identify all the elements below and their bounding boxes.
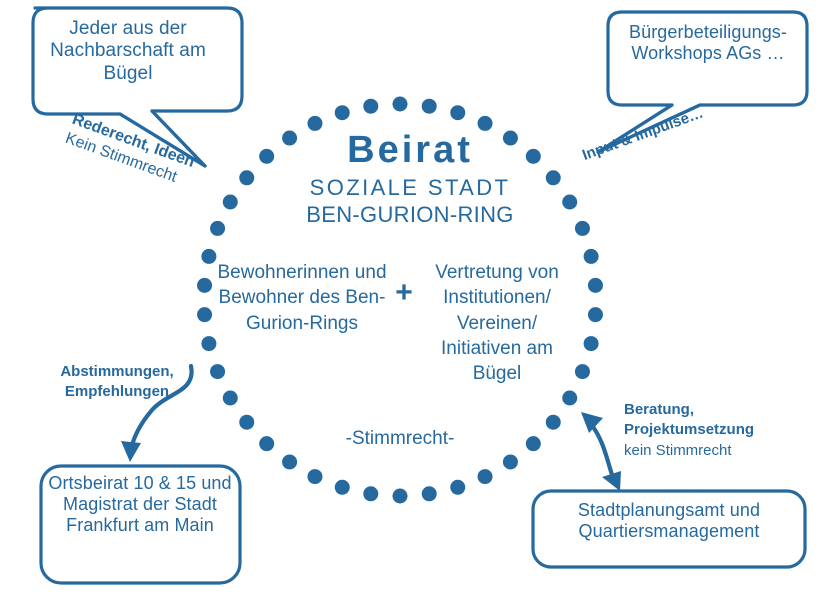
arrow-beratung-head-down bbox=[602, 471, 621, 491]
ring-member-group-institutions: Vertretung von Institutionen/ Vereinen/ … bbox=[424, 260, 570, 386]
ring-dot bbox=[259, 436, 274, 451]
ring-dot bbox=[584, 336, 599, 351]
ring-dot bbox=[503, 454, 518, 469]
ring-dot bbox=[223, 391, 238, 406]
box-bottom-left-text: Ortsbeirat 10 & 15 und Magistrat der Sta… bbox=[44, 473, 236, 537]
arrow-beratung-head-up bbox=[581, 412, 603, 433]
label-beratung-regular: kein Stimmrecht bbox=[624, 441, 800, 461]
ring-dot bbox=[588, 278, 603, 293]
ring-dot bbox=[546, 415, 561, 430]
ring-dot bbox=[422, 486, 437, 501]
ring-dot bbox=[363, 486, 378, 501]
ring-dot bbox=[197, 307, 212, 322]
diagram-canvas: Jeder aus der Nachbarschaft am Bügel Bür… bbox=[0, 0, 820, 600]
ring-dot bbox=[562, 195, 577, 210]
diagram-subtitle-program: SOZIALE STADT bbox=[265, 175, 555, 201]
label-beratung-projektumsetzung: Beratung, Projektumsetzung kein Stimmrec… bbox=[624, 400, 800, 461]
ring-dot bbox=[575, 221, 590, 236]
ring-dot bbox=[335, 480, 350, 495]
bubble-top-left-text: Jeder aus der Nachbarschaft am Bügel bbox=[24, 18, 232, 85]
ring-dot bbox=[239, 415, 254, 430]
ring-dot bbox=[575, 364, 590, 379]
ring-dot bbox=[223, 195, 238, 210]
ring-dot bbox=[588, 307, 603, 322]
voting-rights-note: -Stimmrecht- bbox=[320, 428, 480, 450]
ring-dot bbox=[282, 454, 297, 469]
ring-dot bbox=[584, 249, 599, 264]
bubble-top-right-text: Bürgerbeteiligungs- Workshops AGs … bbox=[612, 22, 804, 64]
ring-dot bbox=[210, 364, 225, 379]
ring-dot bbox=[307, 469, 322, 484]
label-beratung-bold: Beratung, Projektumsetzung bbox=[624, 400, 800, 441]
ring-dot bbox=[239, 170, 254, 185]
ring-dot bbox=[478, 469, 493, 484]
ring-dot bbox=[393, 97, 408, 112]
plus-icon: + bbox=[386, 278, 422, 308]
diagram-title: Beirat bbox=[265, 128, 555, 173]
ring-dot bbox=[210, 221, 225, 236]
ring-dot bbox=[422, 99, 437, 114]
ring-dot bbox=[197, 278, 212, 293]
ring-dot bbox=[450, 480, 465, 495]
ring-dot bbox=[201, 336, 216, 351]
box-bottom-right-text: Stadtplanungsamt und Quartiersmanagement bbox=[540, 500, 798, 542]
ring-dot bbox=[526, 436, 541, 451]
label-abstimmungen-empfehlungen: Abstimmungen, Empfehlungen bbox=[42, 362, 192, 403]
ring-member-group-residents: Bewohnerinnen und Bewohner des Ben-Gurio… bbox=[214, 260, 390, 336]
ring-dot bbox=[335, 105, 350, 120]
arrow-beratung bbox=[591, 424, 613, 478]
diagram-subtitle-location: BEN-GURION-RING bbox=[265, 202, 555, 228]
ring-dot bbox=[393, 489, 408, 504]
ring-dot bbox=[562, 391, 577, 406]
arrow-abstimmungen-head bbox=[121, 441, 141, 462]
ring-dot bbox=[363, 99, 378, 114]
ring-dot bbox=[450, 105, 465, 120]
